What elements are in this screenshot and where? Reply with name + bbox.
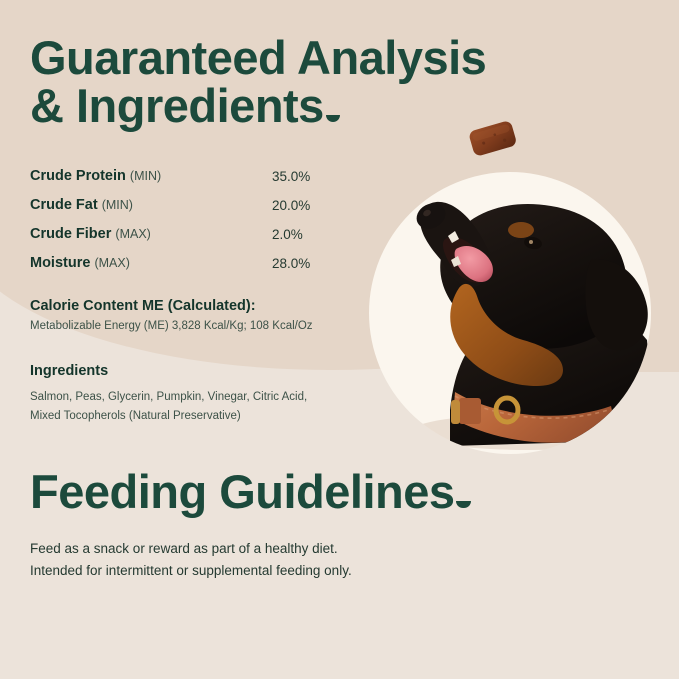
nutrient-label: Crude Protein (MIN) (30, 168, 161, 184)
nutrient-value: 35.0% (272, 169, 310, 184)
nutrient-label-text: Crude Fiber (30, 226, 111, 242)
table-row: Moisture (MAX) 28.0% (30, 255, 330, 284)
nutrient-label-text: Moisture (30, 255, 90, 271)
calorie-content-title: Calorie Content ME (Calculated): (30, 298, 340, 314)
calorie-content-block: Calorie Content ME (Calculated): Metabol… (30, 298, 340, 332)
nutrient-label: Crude Fat (MIN) (30, 197, 133, 213)
page-title-line2: & Ingredients (30, 79, 324, 132)
feeding-guidelines-title: Feeding Guidelines (30, 468, 471, 516)
nutrient-qualifier: (MIN) (130, 169, 161, 183)
guaranteed-analysis-table: Crude Protein (MIN) 35.0% Crude Fat (MIN… (30, 168, 330, 284)
table-row: Crude Fiber (MAX) 2.0% (30, 226, 330, 255)
feeding-guidelines-body: Feed as a snack or reward as part of a h… (30, 538, 470, 582)
nutrient-label-text: Crude Protein (30, 168, 126, 184)
ingredients-title: Ingredients (30, 363, 310, 379)
brand-dot-icon (326, 115, 341, 122)
feeding-guidelines-line1: Feed as a snack or reward as part of a h… (30, 538, 470, 560)
nutrient-label-text: Crude Fat (30, 197, 98, 213)
nutrient-qualifier: (MIN) (102, 198, 133, 212)
page-title-line1: Guaranteed Analysis (30, 31, 486, 84)
feeding-guidelines-line2: Intended for intermittent or supplementa… (30, 560, 470, 582)
photo-circle-backdrop (369, 172, 651, 454)
nutrient-value: 2.0% (272, 227, 303, 242)
ingredients-block: Ingredients Salmon, Peas, Glycerin, Pump… (30, 363, 310, 425)
nutrient-label: Crude Fiber (MAX) (30, 226, 151, 242)
feeding-guidelines-title-text: Feeding Guidelines (30, 465, 455, 518)
ingredients-list: Salmon, Peas, Glycerin, Pumpkin, Vinegar… (30, 388, 310, 425)
table-row: Crude Fat (MIN) 20.0% (30, 197, 330, 226)
brand-dot-icon (456, 501, 471, 508)
calorie-content-detail: Metabolizable Energy (ME) 3,828 Kcal/Kg;… (30, 320, 340, 332)
nutrient-qualifier: (MAX) (94, 256, 129, 270)
table-row: Crude Protein (MIN) 35.0% (30, 168, 330, 197)
nutrient-value: 28.0% (272, 256, 310, 271)
page-title: Guaranteed Analysis& Ingredients (30, 34, 486, 130)
nutrient-qualifier: (MAX) (115, 227, 150, 241)
nutrient-label: Moisture (MAX) (30, 255, 130, 271)
product-info-panel: Guaranteed Analysis& Ingredients Crude P… (0, 0, 679, 679)
nutrient-value: 20.0% (272, 198, 310, 213)
